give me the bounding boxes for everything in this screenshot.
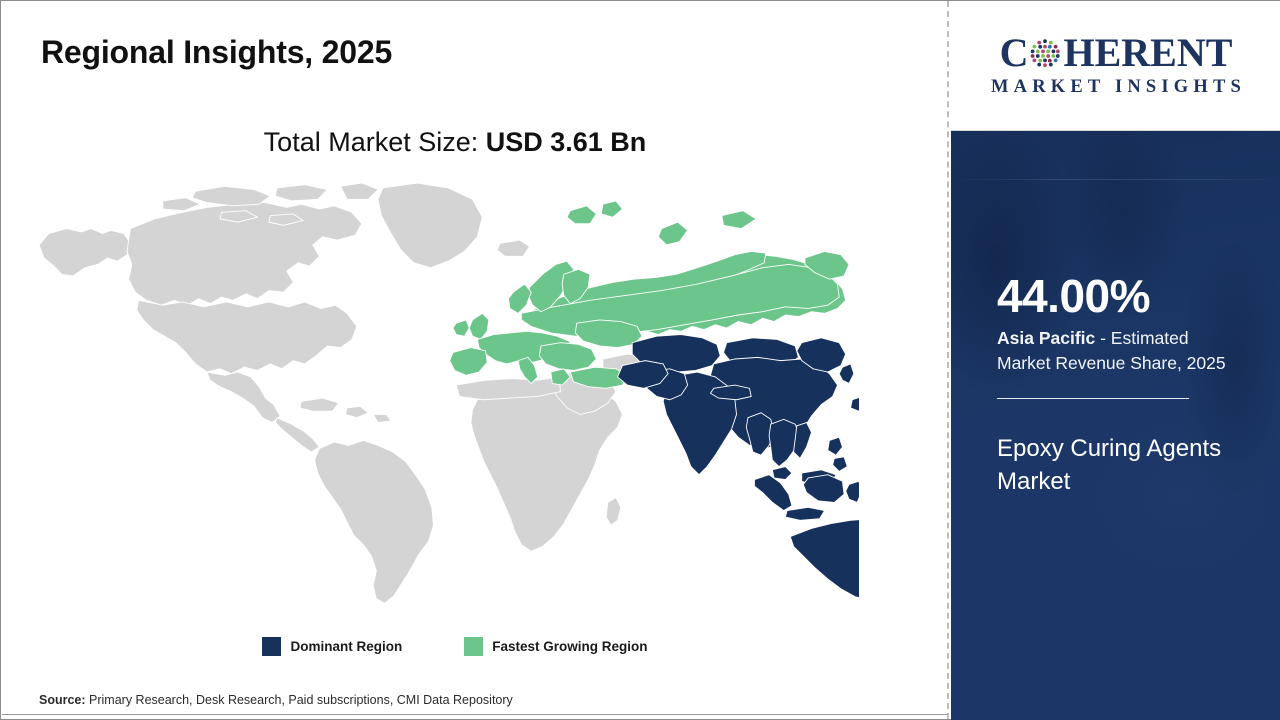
brand-logo-wordmark: C [1000, 33, 1233, 73]
map-region-dominant [618, 335, 859, 615]
map-legend: Dominant Region Fastest Growing Region [1, 637, 909, 656]
source-text: Primary Research, Desk Research, Paid su… [86, 693, 513, 707]
total-market-size-label: Total Market Size: [264, 127, 486, 157]
map-region-other [39, 183, 658, 603]
legend-item-dominant[interactable]: Dominant Region [262, 637, 402, 656]
right-panel: C [951, 1, 1280, 720]
legend-label-dominant: Dominant Region [290, 639, 402, 654]
legend-label-fastest-growing: Fastest Growing Region [492, 639, 647, 654]
stat-divider [997, 398, 1189, 399]
source-divider [2, 714, 948, 715]
total-market-size-value: USD 3.61 Bn [486, 127, 647, 157]
infographic-root: Regional Insights, 2025 Total Market Siz… [0, 0, 1280, 720]
share-percentage: 44.00% [997, 273, 1235, 320]
brand-name-c: C [1000, 33, 1029, 73]
world-map[interactable] [29, 183, 859, 623]
source-label: Source: [39, 693, 86, 707]
legend-swatch-fastest-growing-icon [464, 637, 483, 656]
legend-item-fastest-growing[interactable]: Fastest Growing Region [464, 637, 647, 656]
legend-swatch-dominant-icon [262, 637, 281, 656]
brand-name-rest: HERENT [1063, 33, 1232, 73]
page-title: Regional Insights, 2025 [41, 34, 392, 71]
source-note: Source: Primary Research, Desk Research,… [39, 693, 513, 707]
share-region-name: Asia Pacific [997, 328, 1095, 348]
market-name: Epoxy Curing Agents Market [997, 432, 1232, 498]
world-map-svg [29, 183, 859, 623]
stat-content: 44.00% Asia Pacific - Estimated Market R… [951, 273, 1280, 498]
share-description: Asia Pacific - Estimated Market Revenue … [997, 326, 1229, 376]
total-market-size: Total Market Size: USD 3.61 Bn [1, 127, 909, 158]
globe-o-icon [1028, 36, 1062, 70]
brand-tagline: MARKET INSIGHTS [986, 77, 1246, 98]
stat-panel: 44.00% Asia Pacific - Estimated Market R… [951, 131, 1280, 720]
left-panel: Regional Insights, 2025 Total Market Siz… [1, 1, 949, 719]
brand-logo[interactable]: C [951, 1, 1280, 131]
